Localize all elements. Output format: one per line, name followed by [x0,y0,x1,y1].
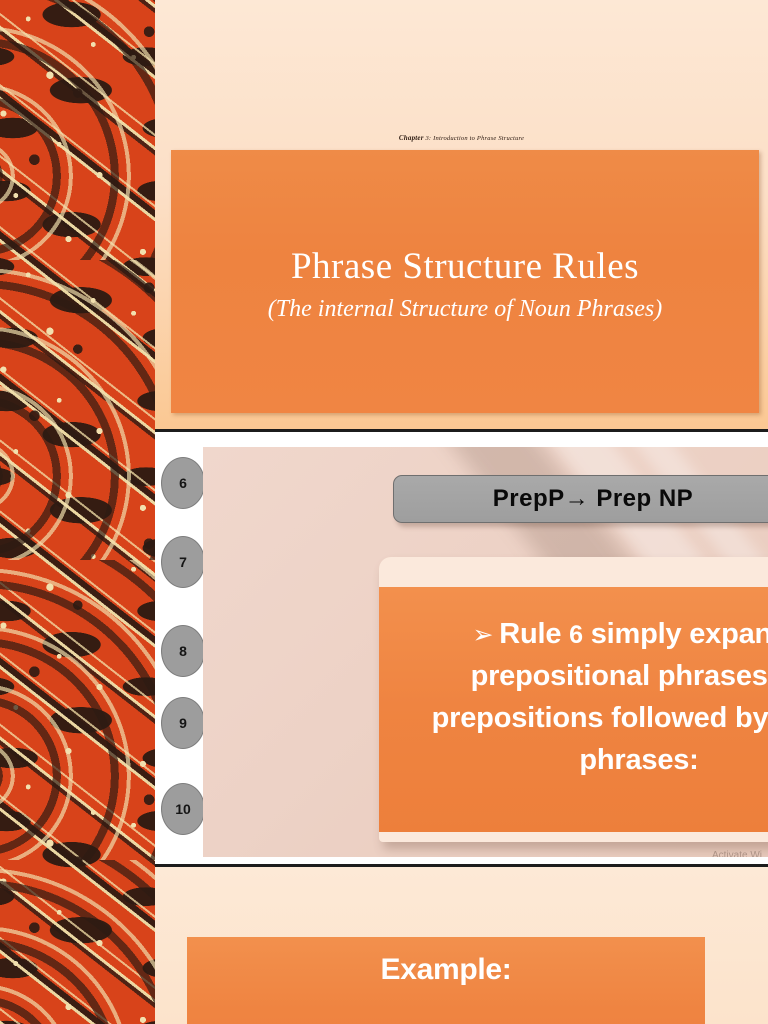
presentation-page: Chapter 3: Introduction to Phrase Struct… [0,0,768,1024]
slide-thumbnail-rail[interactable]: 6 7 8 9 10 [155,435,205,864]
browser-window-card: ➢Rule 6 simply expands prepositional phr… [379,557,768,842]
chapter-title-label: Introduction to Phrase Structure [433,135,524,142]
batik-spiral-layer [0,0,155,1024]
page-title: Phrase Structure Rules [171,245,759,288]
arrow-bullet-icon: ➢ [472,621,493,649]
chapter-header: Chapter 3: Introduction to Phrase Struct… [155,134,768,142]
title-card: Phrase Structure Rules (The internal Str… [171,150,759,413]
chapter-number-label: 3: [425,135,431,142]
batik-border-decoration [0,0,155,1024]
slide-thumbnail-10[interactable]: 10 [161,783,205,835]
rule-prefix-label: Rule [499,618,561,650]
browser-title-bar [379,557,768,587]
example-card: Example: [187,937,705,1024]
slide-thumbnail-8[interactable]: 8 [161,625,205,677]
editor-slide-section: 6 7 8 9 10 PrepP→ Prep NP ➢Rule [155,435,768,864]
title-slide-section: Chapter 3: Introduction to Phrase Struct… [155,0,768,432]
activate-windows-watermark: Activate Wi [712,850,762,857]
slide-thumbnail-9[interactable]: 9 [161,697,205,749]
slide-thumbnail-7[interactable]: 7 [161,536,205,588]
example-heading: Example: [187,953,705,987]
prepp-rule-chip[interactable]: PrepP→ Prep NP [393,475,768,523]
slide-canvas: PrepP→ Prep NP ➢Rule 6 simply expands pr… [203,447,768,857]
chapter-prefix-label: Chapter [399,134,424,142]
slide-thumbnail-6[interactable]: 6 [161,457,205,509]
browser-content-area: ➢Rule 6 simply expands prepositional phr… [379,587,768,832]
rule-explanation-text: ➢Rule 6 simply expands prepositional phr… [409,613,768,781]
page-subtitle: (The internal Structure of Noun Phrases) [171,296,759,323]
rule-number-label: 6 [569,621,583,649]
example-slide-section: Example: [155,864,768,1024]
